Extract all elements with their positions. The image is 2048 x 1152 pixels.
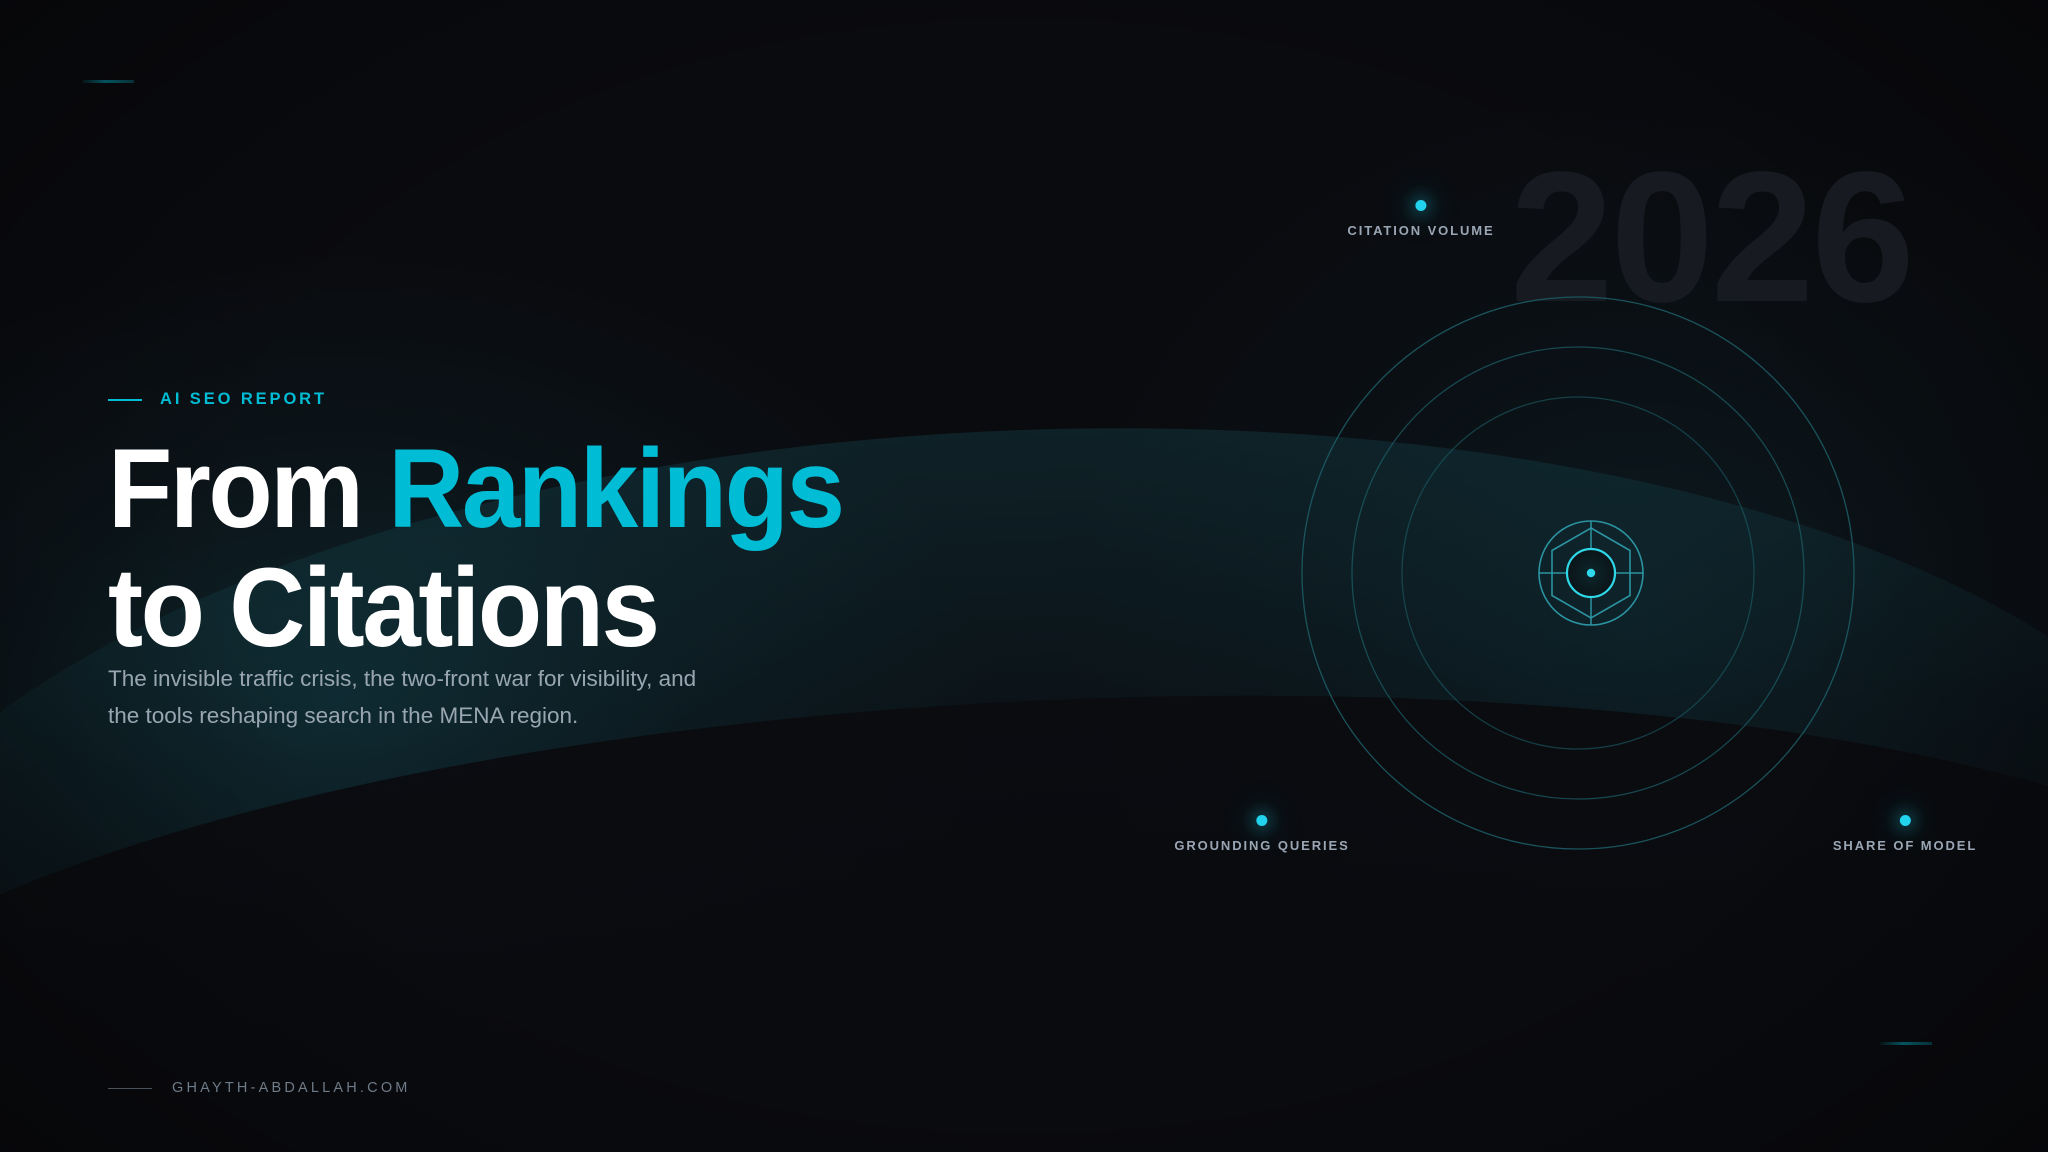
node-dot-icon (1899, 815, 1910, 826)
subtitle: The invisible traffic crisis, the two-fr… (108, 660, 748, 735)
report-cover-slide: 2026 CI (0, 0, 2048, 1152)
headline-line-1: From Rankings (108, 430, 879, 549)
eyebrow: AI SEO REPORT (108, 390, 327, 409)
node-label: GROUNDING QUERIES (1174, 838, 1349, 853)
headline-accent: Rankings (388, 426, 842, 551)
node-dot-icon (1416, 200, 1427, 211)
headline-line-2: to Citations (108, 549, 879, 668)
subtitle-line-1: The invisible traffic crisis, the two-fr… (108, 660, 748, 697)
subtitle-line-2: the tools reshaping search in the MENA r… (108, 697, 748, 734)
accent-rule-bottom-right (1880, 1042, 1932, 1045)
footer: GHAYTH-ABDALLAH.COM (108, 1080, 411, 1096)
node-label: CITATION VOLUME (1347, 223, 1494, 238)
node-share-of-model[interactable]: SHARE OF MODEL (1833, 815, 1977, 853)
node-dot-icon (1256, 815, 1267, 826)
page-title: From Rankings to Citations (108, 430, 879, 667)
headline-plain: From (108, 426, 388, 551)
footer-site-label: GHAYTH-ABDALLAH.COM (172, 1080, 411, 1096)
radar-visualization: 2026 (1100, 40, 2048, 1040)
target-hexagon-icon (1498, 480, 1684, 666)
footer-rule-icon (108, 1088, 152, 1089)
node-grounding-queries[interactable]: GROUNDING QUERIES (1174, 815, 1349, 853)
eyebrow-dash-icon (108, 399, 142, 401)
node-label: SHARE OF MODEL (1833, 838, 1977, 853)
node-citation-volume[interactable]: CITATION VOLUME (1347, 200, 1494, 238)
content-column: AI SEO REPORT From Rankings to Citations… (108, 0, 928, 1152)
eyebrow-label: AI SEO REPORT (160, 390, 327, 409)
